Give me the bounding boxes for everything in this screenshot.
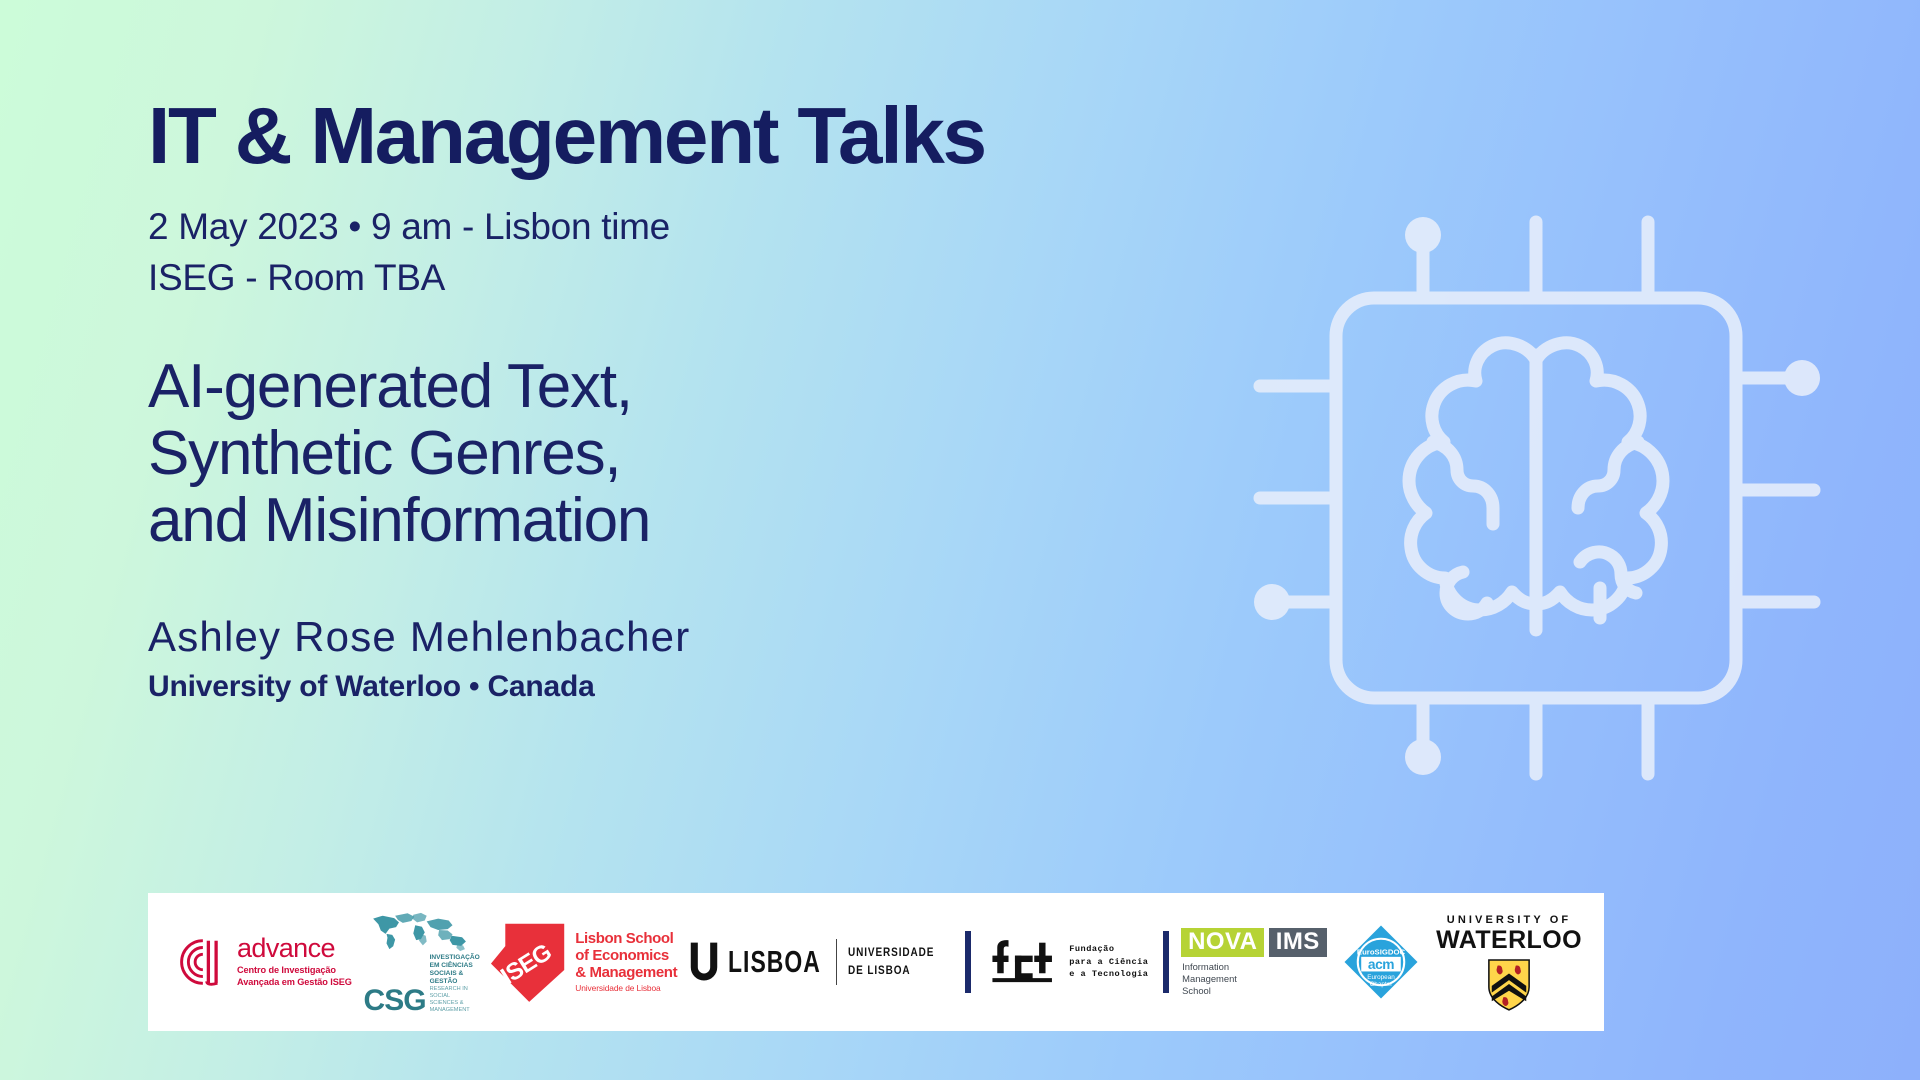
talk-title-line-1: AI-generated Text, (148, 354, 1148, 421)
logo-fct: Fundação para a Ciência e a Tecnologia (965, 931, 1169, 993)
logo-ulisboa: LISBOA UNIVERSIDADE DE LISBOA (689, 939, 954, 985)
fct-subtitle: Fundação para a Ciência e a Tecnologia (1069, 943, 1148, 982)
csg-subtitle-line-3: SOCIAIS & GESTÃO (430, 970, 480, 986)
csg-world-map-icon (366, 909, 474, 953)
svg-text:acm: acm (1368, 957, 1394, 972)
csg-subtitle: INVESTIGAÇÃO EM CIÊNCIAS SOCIAIS & GESTÃ… (430, 954, 480, 1013)
csg-subtitle-en-2: SCIENCES & MANAGEMENT (430, 1000, 480, 1014)
advance-subtitle-line-1: Centro de Investigação (237, 965, 352, 977)
csg-subtitle-line-2: EM CIÊNCIAS (430, 962, 480, 970)
fct-subtitle-line-3: e a Tecnologia (1069, 968, 1148, 981)
fct-subtitle-line-2: para a Ciência (1069, 956, 1148, 969)
fct-bar-right (1163, 931, 1169, 993)
svg-text:EuroSIGDOC: EuroSIGDOC (1357, 947, 1406, 956)
fct-subtitle-line-1: Fundação (1069, 943, 1148, 956)
svg-text:Chapter: Chapter (1370, 981, 1394, 988)
advance-name: advance (237, 935, 352, 962)
logo-eurosigdoc-acm: EuroSIGDOC acm European Chapter (1338, 919, 1424, 1005)
iseg-title-line-2: of Economics (575, 947, 677, 964)
advance-subtitle: Centro de Investigação Avançada em Gestã… (237, 965, 352, 989)
talk-title: AI-generated Text, Synthetic Genres, and… (148, 354, 1148, 555)
poster-canvas: IT & Management Talks 2 May 2023 • 9 am … (0, 0, 1920, 1080)
advance-text: advance Centro de Investigação Avançada … (237, 935, 352, 989)
fct-wordmark-icon (986, 937, 1060, 987)
csg-name: CSG (364, 988, 426, 1014)
waterloo-shield-icon (1486, 957, 1532, 1011)
iseg-mark-icon: ISEG (487, 919, 565, 1005)
logo-waterloo: UNIVERSITY OF WATERLOO (1436, 914, 1582, 1011)
iseg-title-line-3: & Management (575, 964, 677, 981)
iseg-subtitle: Universidade de Lisboa (575, 984, 677, 994)
iseg-title-line-1: Lisbon School (575, 930, 677, 947)
event-venue: ISEG - Room TBA (148, 253, 1148, 302)
ulisboa-subtitle: UNIVERSIDADE DE LISBOA (848, 944, 934, 979)
advance-subtitle-line-2: Avançada em Gestão ISEG (237, 977, 352, 989)
event-date-time: 2 May 2023 • 9 am - Lisbon time (148, 202, 1148, 251)
ims-name: IMS (1269, 928, 1327, 956)
csg-wordmark-row: CSG INVESTIGAÇÃO EM CIÊNCIAS SOCIAIS & G… (364, 954, 480, 1014)
nova-subtitle-line-2: Management (1182, 973, 1327, 985)
page-title: IT & Management Talks (148, 96, 1148, 176)
nova-name: NOVA (1181, 928, 1264, 956)
csg-subtitle-en-1: RESEARCH IN SOCIAL (430, 986, 480, 1000)
iseg-text: Lisbon School of Economics & Management … (575, 930, 677, 994)
svg-text:European: European (1368, 974, 1396, 981)
ulisboa-divider (836, 939, 837, 985)
nova-subtitle-line-3: School (1182, 985, 1327, 997)
ulisboa-u-icon (689, 940, 719, 984)
ai-brain-chip-icon (1248, 190, 1848, 790)
fct-bar-left (965, 931, 971, 993)
fct-mid: Fundação para a Ciência e a Tecnologia (986, 937, 1148, 987)
advance-mark-icon (170, 933, 228, 991)
sponsor-logo-bar: advance Centro de Investigação Avançada … (148, 893, 1604, 1031)
speaker-name: Ashley Rose Mehlenbacher (148, 613, 1148, 661)
talk-title-line-2: Synthetic Genres, (148, 421, 1148, 488)
acm-diamond-icon: EuroSIGDOC acm European Chapter (1338, 919, 1424, 1005)
logo-nova-ims: NOVA IMS Information Management School (1181, 926, 1327, 998)
logo-iseg: ISEG Lisbon School of Economics & Manage… (487, 919, 677, 1005)
speaker-affiliation: University of Waterloo • Canada (148, 670, 1148, 704)
nova-subtitle: Information Management School (1182, 961, 1327, 998)
ulisboa-subtitle-line-2: DE LISBOA (848, 962, 934, 980)
nova-subtitle-line-1: Information (1182, 961, 1327, 973)
ulisboa-name: LISBOA (728, 944, 824, 980)
talk-title-line-3: and Misinformation (148, 488, 1148, 555)
ulisboa-subtitle-line-1: UNIVERSIDADE (848, 944, 934, 962)
logo-advance: advance Centro de Investigação Avançada … (170, 933, 352, 991)
logo-csg: CSG INVESTIGAÇÃO EM CIÊNCIAS SOCIAIS & G… (364, 909, 476, 1014)
waterloo-name: WATERLOO (1436, 927, 1582, 954)
poster-text-block: IT & Management Talks 2 May 2023 • 9 am … (148, 96, 1148, 704)
waterloo-prefix: UNIVERSITY OF (1436, 914, 1582, 926)
